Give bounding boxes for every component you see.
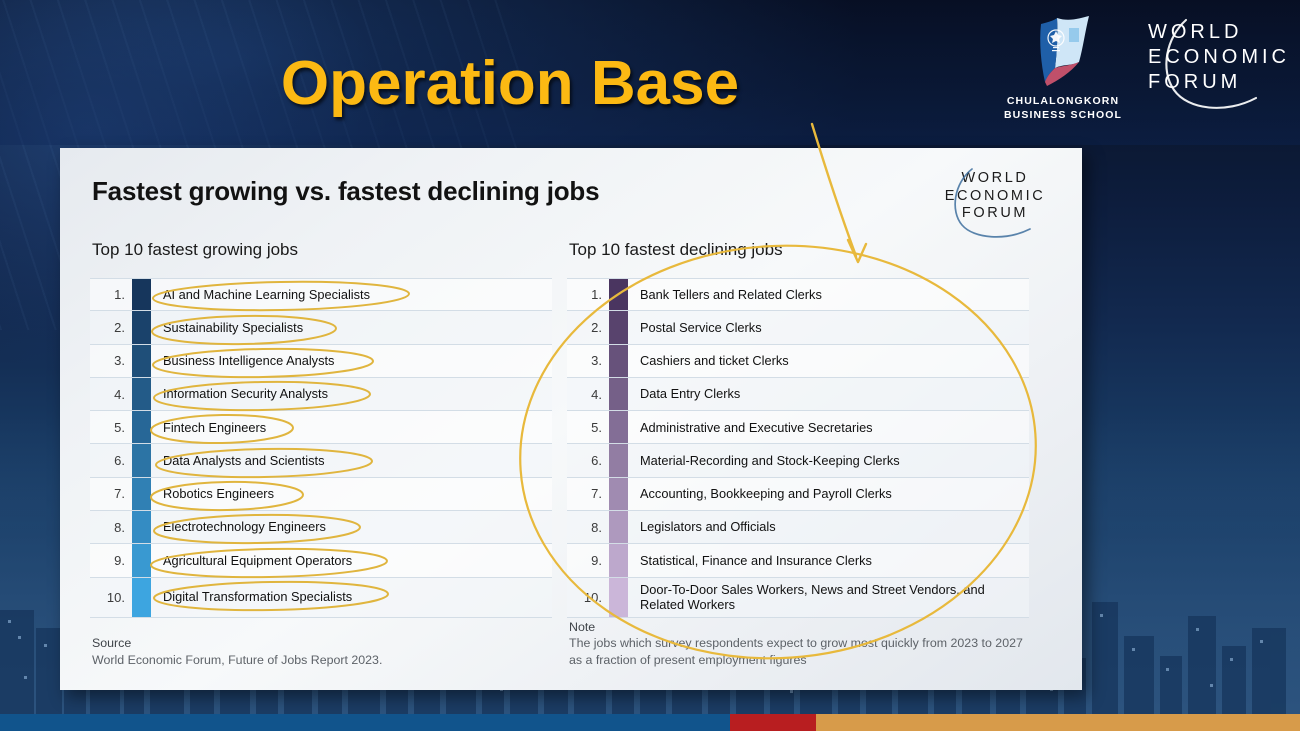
source-text: World Economic Forum, Future of Jobs Rep… [92, 653, 382, 667]
job-title: Data Analysts and Scientists [151, 444, 552, 476]
table-row[interactable]: 1. AI and Machine Learning Specialists [90, 278, 552, 311]
source-label: Source [92, 635, 522, 652]
footer-color-bar [0, 714, 1300, 731]
accent-swatch [609, 478, 628, 510]
job-title: AI and Machine Learning Specialists [151, 279, 552, 310]
table-row[interactable]: 3. Business Intelligence Analysts [90, 345, 552, 378]
growing-jobs-heading: Top 10 fastest growing jobs [92, 240, 298, 260]
accent-swatch [609, 279, 628, 310]
note-footnote: Note The jobs which survey respondents e… [569, 619, 1039, 669]
job-title: Robotics Engineers [151, 478, 552, 510]
accent-swatch [132, 478, 151, 510]
accent-swatch [132, 578, 151, 617]
table-row[interactable]: 2. Postal Service Clerks [567, 311, 1029, 344]
job-title: Business Intelligence Analysts [151, 345, 552, 377]
table-row[interactable]: 9. Agricultural Equipment Operators [90, 544, 552, 577]
source-footnote: Source World Economic Forum, Future of J… [92, 635, 522, 668]
job-title: Agricultural Equipment Operators [151, 544, 552, 576]
accent-swatch [132, 378, 151, 410]
table-row[interactable]: 1. Bank Tellers and Related Clerks [567, 278, 1029, 311]
rank-label: 1. [567, 279, 609, 310]
table-row[interactable]: 7. Accounting, Bookkeeping and Payroll C… [567, 478, 1029, 511]
logo-group: CHULALONGKORN BUSINESS SCHOOL WORLD ECON… [1004, 14, 1280, 122]
declining-jobs-heading: Top 10 fastest declining jobs [569, 240, 783, 260]
job-title: Legislators and Officials [628, 511, 1029, 543]
table-row[interactable]: 5. Fintech Engineers [90, 411, 552, 444]
job-title: Cashiers and ticket Clerks [628, 345, 1029, 377]
accent-swatch [609, 511, 628, 543]
accent-swatch [609, 311, 628, 343]
job-title: Fintech Engineers [151, 411, 552, 443]
job-title: Bank Tellers and Related Clerks [628, 279, 1029, 310]
note-label: Note [569, 619, 1039, 636]
table-row[interactable]: 3. Cashiers and ticket Clerks [567, 345, 1029, 378]
rank-label: 5. [567, 411, 609, 443]
footer-segment-red [730, 714, 816, 731]
table-row[interactable]: 4. Data Entry Clerks [567, 378, 1029, 411]
rank-label: 2. [567, 311, 609, 343]
table-row[interactable]: 6. Material-Recording and Stock-Keeping … [567, 444, 1029, 477]
chulalongkorn-business-school-logo: CHULALONGKORN BUSINESS SCHOOL [1004, 14, 1122, 122]
footer-segment-tan [816, 714, 1300, 731]
table-row[interactable]: 7. Robotics Engineers [90, 478, 552, 511]
chulalongkorn-logo-line1: CHULALONGKORN [1004, 94, 1122, 108]
accent-swatch [132, 411, 151, 443]
rank-label: 3. [567, 345, 609, 377]
declining-jobs-table: 1. Bank Tellers and Related Clerks 2. Po… [567, 278, 1029, 618]
rank-label: 10. [567, 578, 609, 617]
rank-label: 3. [90, 345, 132, 377]
rank-label: 1. [90, 279, 132, 310]
job-title: Administrative and Executive Secretaries [628, 411, 1029, 443]
table-row[interactable]: 6. Data Analysts and Scientists [90, 444, 552, 477]
rank-label: 8. [567, 511, 609, 543]
job-title: Sustainability Specialists [151, 311, 552, 343]
accent-swatch [609, 578, 628, 617]
accent-swatch [609, 444, 628, 476]
rank-label: 8. [90, 511, 132, 543]
job-title: Statistical, Finance and Insurance Clerk… [628, 544, 1029, 576]
jobs-comparison-card: Fastest growing vs. fastest declining jo… [60, 148, 1082, 690]
job-title: Accounting, Bookkeeping and Payroll Cler… [628, 478, 1029, 510]
accent-swatch [609, 345, 628, 377]
rank-label: 4. [567, 378, 609, 410]
table-row[interactable]: 10. Door-To-Door Sales Workers, News and… [567, 578, 1029, 618]
job-title: Door-To-Door Sales Workers, News and Str… [628, 578, 1029, 617]
accent-swatch [609, 411, 628, 443]
world-economic-forum-logo: WORLD ECONOMIC FORUM [1148, 14, 1280, 95]
growing-jobs-table: 1. AI and Machine Learning Specialists 2… [90, 278, 552, 618]
card-wef-swoosh-icon [942, 167, 1054, 243]
table-row[interactable]: 2. Sustainability Specialists [90, 311, 552, 344]
table-row[interactable]: 8. Electrotechnology Engineers [90, 511, 552, 544]
rank-label: 4. [90, 378, 132, 410]
accent-swatch [609, 544, 628, 576]
card-title: Fastest growing vs. fastest declining jo… [92, 176, 599, 207]
job-title: Digital Transformation Specialists [151, 578, 552, 617]
table-row[interactable]: 4. Information Security Analysts [90, 378, 552, 411]
job-title: Electrotechnology Engineers [151, 511, 552, 543]
accent-swatch [132, 345, 151, 377]
card-wef-logo: WORLD ECONOMIC FORUM [936, 170, 1054, 223]
rank-label: 5. [90, 411, 132, 443]
accent-swatch [132, 511, 151, 543]
job-title: Information Security Analysts [151, 378, 552, 410]
presentation-slide: Operation Base CHULALONGKORN [0, 0, 1300, 731]
table-row[interactable]: 8. Legislators and Officials [567, 511, 1029, 544]
accent-swatch [132, 544, 151, 576]
job-title: Data Entry Clerks [628, 378, 1029, 410]
accent-swatch [132, 279, 151, 310]
rank-label: 6. [567, 444, 609, 476]
rank-label: 7. [90, 478, 132, 510]
rank-label: 9. [90, 544, 132, 576]
table-row[interactable]: 9. Statistical, Finance and Insurance Cl… [567, 544, 1029, 577]
rank-label: 9. [567, 544, 609, 576]
footer-segment-blue [0, 714, 730, 731]
wef-swoosh-icon [1156, 16, 1280, 116]
table-row[interactable]: 10. Digital Transformation Specialists [90, 578, 552, 618]
rank-label: 2. [90, 311, 132, 343]
chulalongkorn-logo-line2: BUSINESS SCHOOL [1004, 108, 1122, 122]
job-title: Postal Service Clerks [628, 311, 1029, 343]
accent-swatch [132, 444, 151, 476]
rank-label: 6. [90, 444, 132, 476]
job-title: Material-Recording and Stock-Keeping Cle… [628, 444, 1029, 476]
accent-swatch [132, 311, 151, 343]
rank-label: 10. [90, 578, 132, 617]
table-row[interactable]: 5. Administrative and Executive Secretar… [567, 411, 1029, 444]
rank-label: 7. [567, 478, 609, 510]
note-text: The jobs which survey respondents expect… [569, 636, 1023, 667]
accent-swatch [609, 378, 628, 410]
chulalongkorn-emblem-icon [1027, 14, 1099, 88]
